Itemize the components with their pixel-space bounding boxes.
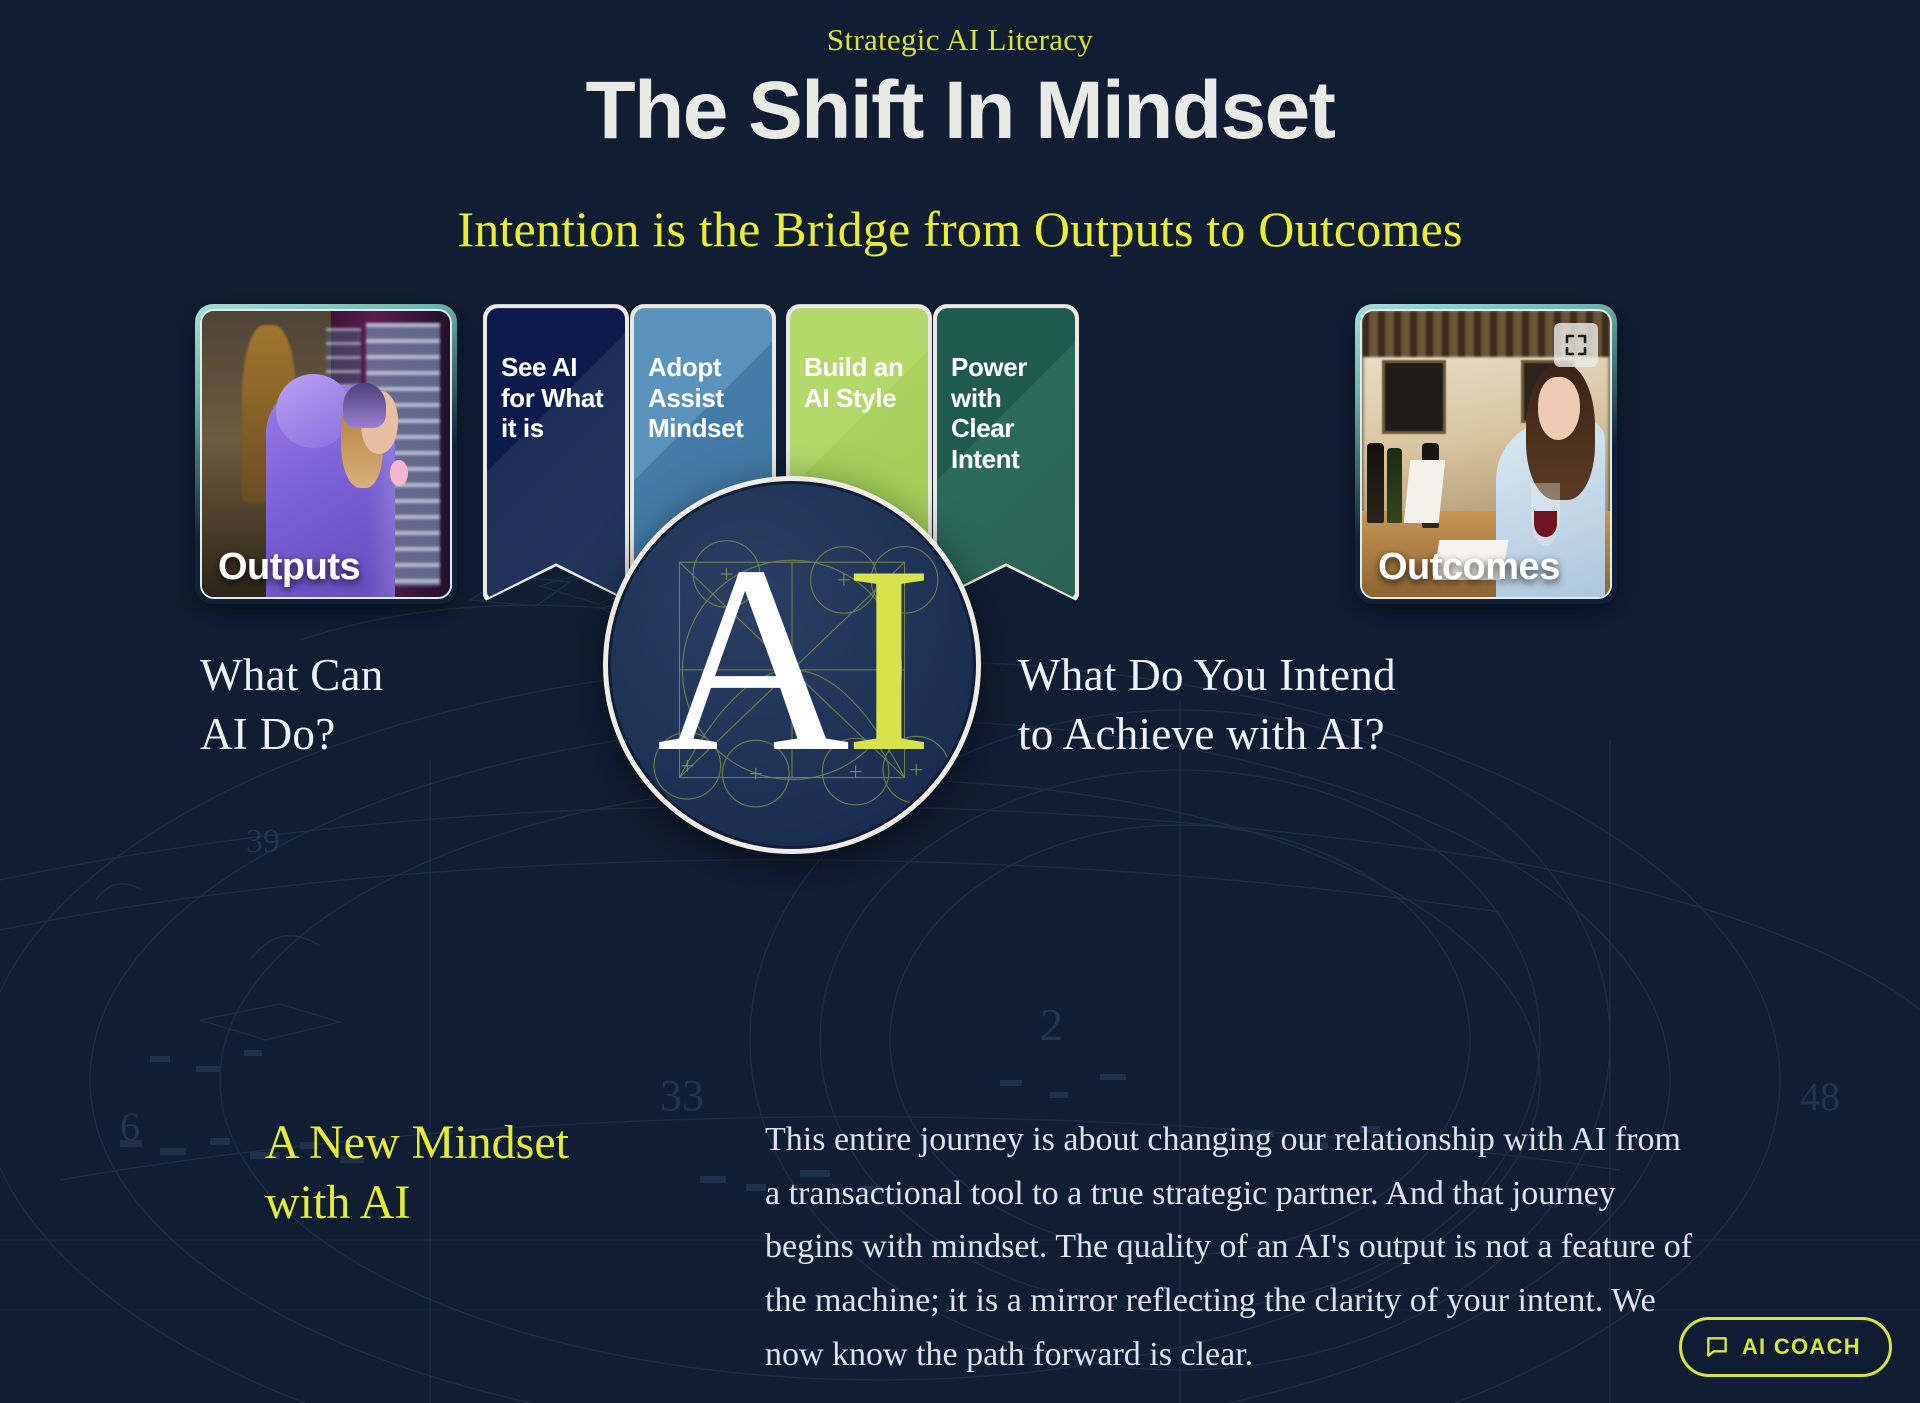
emblem-letter-i: I xyxy=(844,525,927,793)
eyebrow-label: Strategic AI Literacy xyxy=(0,0,1920,58)
banner-label: Build an AI Style xyxy=(804,352,914,413)
question-left: What Can AI Do? xyxy=(200,646,384,763)
svg-text:48: 48 xyxy=(1800,1074,1840,1119)
question-right: What Do You Intend to Achieve with AI? xyxy=(1018,646,1396,763)
banner-label: See AI for What it is xyxy=(501,352,611,444)
ai-coach-label: AI COACH xyxy=(1742,1334,1861,1360)
page-subtitle: Intention is the Bridge from Outputs to … xyxy=(0,200,1920,258)
outputs-caption: Outputs xyxy=(218,546,360,589)
bottom-heading: A New Mindset with AI xyxy=(265,1113,569,1233)
ai-coach-button[interactable]: AI COACH xyxy=(1679,1317,1892,1377)
ai-emblem: AI xyxy=(603,476,981,854)
fullscreen-icon[interactable] xyxy=(1554,323,1598,367)
ai-emblem-letters: AI xyxy=(611,484,973,846)
diagram-stage: Outputs See AI for What it is Adopt Assi… xyxy=(0,294,1920,934)
svg-text:2: 2 xyxy=(1040,999,1063,1050)
outcomes-photo-card[interactable]: Outcomes xyxy=(1355,304,1617,604)
svg-text:33: 33 xyxy=(660,1071,704,1120)
page-title: The Shift In Mindset xyxy=(0,68,1920,154)
outcomes-photo: Outcomes xyxy=(1360,309,1612,599)
outputs-photo: Outputs xyxy=(200,309,452,599)
banner-label: Power with Clear Intent xyxy=(951,352,1061,475)
banner-card-see-ai-for-what-it-is[interactable]: See AI for What it is xyxy=(483,304,629,602)
bottom-paragraph: This entire journey is about changing ou… xyxy=(765,1113,1695,1382)
outcomes-caption: Outcomes xyxy=(1378,546,1560,589)
banner-label: Adopt Assist Mindset xyxy=(648,352,758,444)
emblem-letter-a: A xyxy=(657,525,845,793)
ai-emblem-disc: AI xyxy=(608,481,976,849)
chat-bubble-icon xyxy=(1704,1334,1730,1360)
outputs-photo-card[interactable]: Outputs xyxy=(195,304,457,604)
svg-text:6: 6 xyxy=(120,1104,140,1149)
